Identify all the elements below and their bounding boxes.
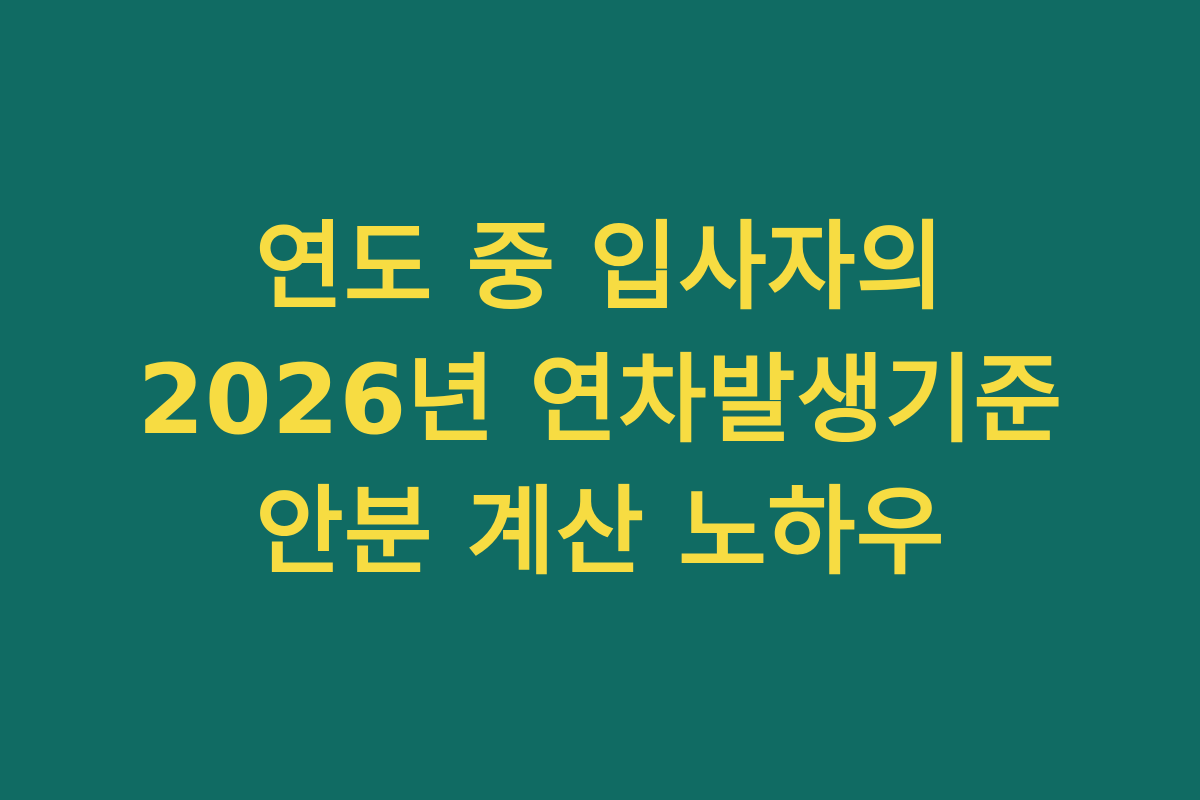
title-block: 연도 중 입사자의 2026년 연차발생기준 안분 계산 노하우	[95, 201, 1105, 598]
title-banner: 연도 중 입사자의 2026년 연차발생기준 안분 계산 노하우	[0, 0, 1200, 800]
page-title: 연도 중 입사자의 2026년 연차발생기준 안분 계산 노하우	[105, 201, 1095, 598]
